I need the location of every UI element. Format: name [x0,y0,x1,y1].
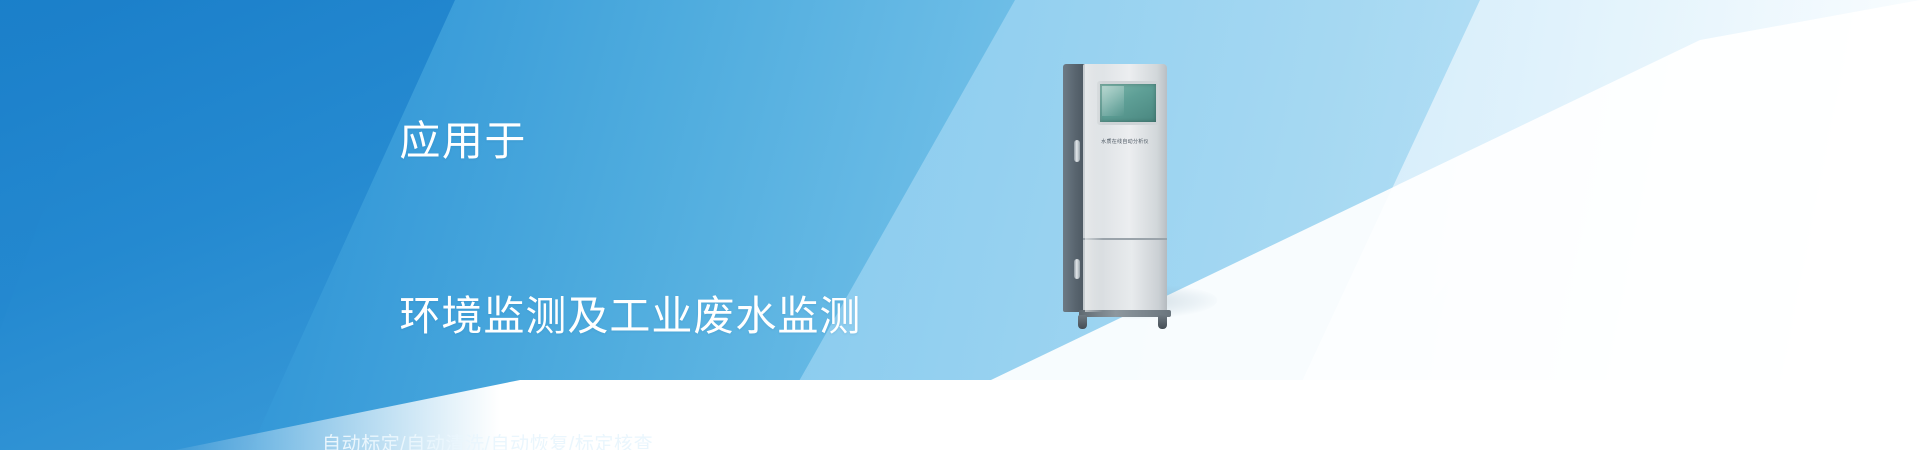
hero-banner: 应用于 环境监测及工业废水监测 自动标定/自动清洗/自动恢复/标定核查 点击了解… [0,0,1920,450]
screen-glare [1102,86,1124,116]
cabinet-lower-section [1083,240,1167,312]
headline-line-2: 环境监测及工业废水监测 [399,293,861,339]
cabinet-caster-right [1158,315,1167,329]
page-title: 应用于 环境监测及工业废水监测 [322,54,1042,403]
headline-line-1: 应用于 [399,118,527,164]
hero-subtitle: 自动标定/自动清洗/自动恢复/标定核查 [322,429,1042,450]
product-image-analyzer: 水质在线自动分析仪 [1063,64,1167,312]
cabinet-door-handle-bottom [1074,259,1080,279]
hero-copy-block: 应用于 环境监测及工业废水监测 自动标定/自动清洗/自动恢复/标定核查 点击了解 [322,54,1042,450]
cabinet-caster-left [1078,315,1087,329]
product-panel-label: 水质在线自动分析仪 [1087,138,1163,145]
cabinet-door-handle-top [1074,140,1080,162]
control-display-screen [1097,81,1159,125]
